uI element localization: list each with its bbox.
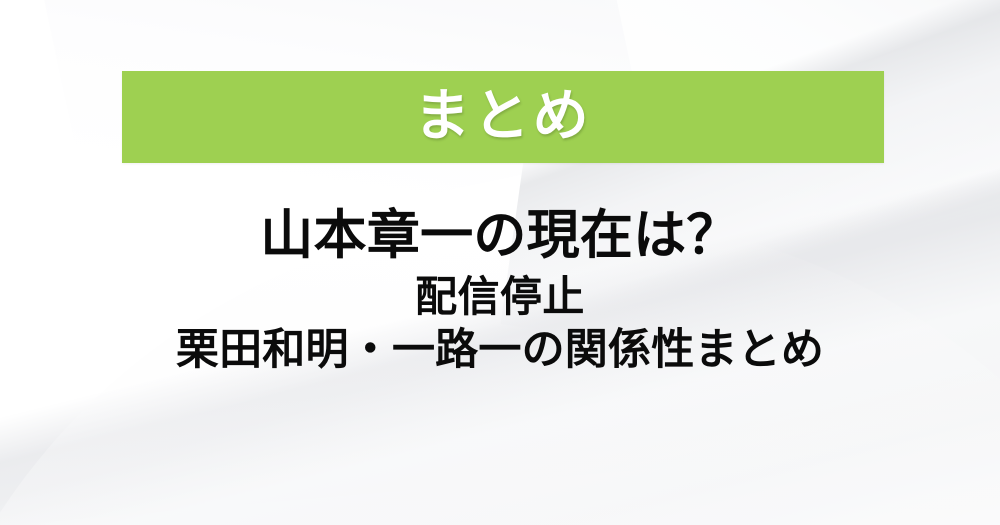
category-banner: まとめ	[122, 71, 884, 163]
headline-line-1: 山本章一の現在は？	[0, 206, 1000, 265]
headline-line-2: 配信停止	[0, 273, 1000, 320]
thumbnail-card: まとめ 山本章一の現在は？ 配信停止 栗田和明・一路一の関係性まとめ	[0, 0, 1000, 525]
headline-line-3: 栗田和明・一路一の関係性まとめ	[0, 326, 1000, 374]
category-banner-label: まとめ	[414, 88, 592, 147]
headline-block: 山本章一の現在は？ 配信停止 栗田和明・一路一の関係性まとめ	[0, 206, 1000, 375]
